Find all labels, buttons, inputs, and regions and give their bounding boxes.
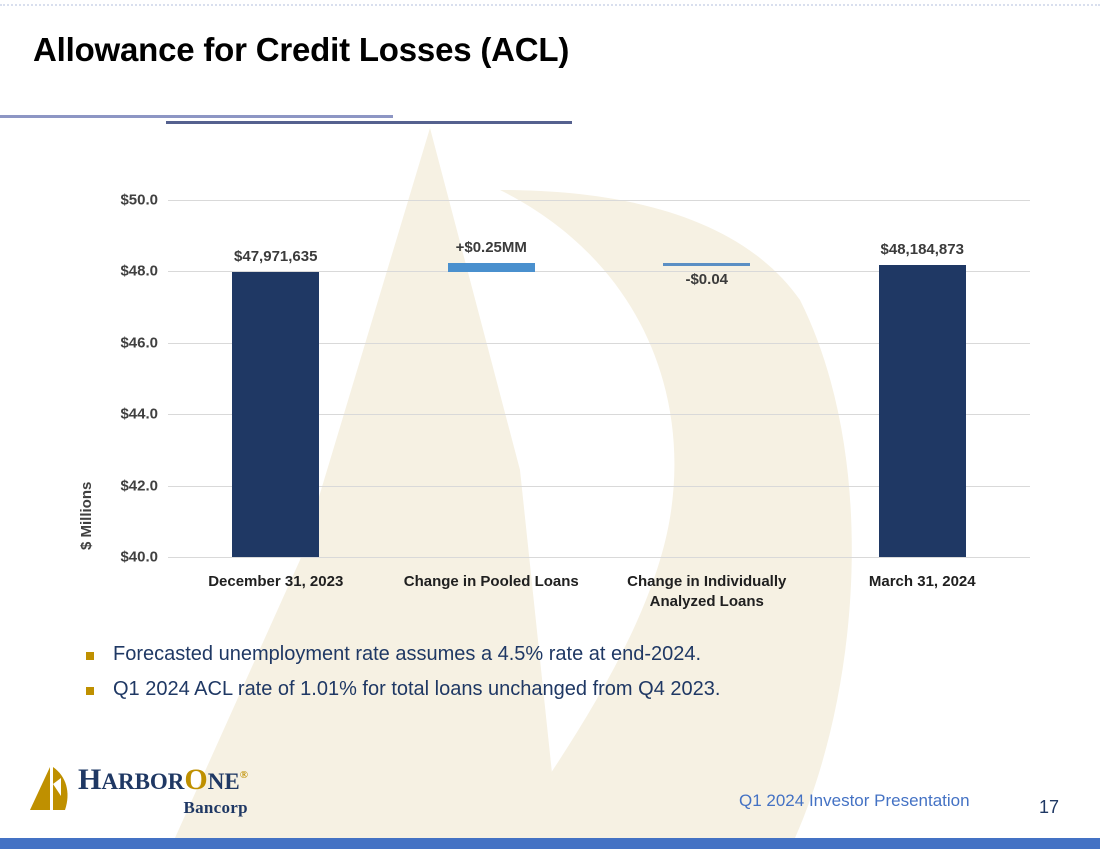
harborone-logo: HARBORONE® Bancorp (28, 765, 248, 818)
logo-arbor: ARBOR (101, 769, 184, 794)
logo-wordmark: HARBORONE® (78, 765, 248, 795)
bullet-text: Forecasted unemployment rate assumes a 4… (113, 643, 701, 666)
slide: Allowance for Credit Losses (ACL) $ Mill… (0, 0, 1100, 849)
data-label: $47,971,635 (176, 248, 376, 265)
bullet-square-icon (86, 687, 94, 695)
x-category-label: March 31, 2024 (818, 572, 1028, 592)
bullet-list: Forecasted unemployment rate assumes a 4… (86, 643, 720, 713)
title-rule-upper (0, 115, 393, 118)
logo-o: O (184, 763, 207, 796)
registered-mark-icon: ® (240, 769, 248, 781)
title-rule-lower (166, 121, 572, 124)
x-category-label: December 31, 2023 (171, 572, 381, 592)
y-tick-label: $40.0 (68, 549, 158, 566)
top-dotted-rule (0, 4, 1100, 8)
y-tick-label: $50.0 (68, 192, 158, 209)
y-tick-label: $46.0 (68, 334, 158, 351)
logo-h: H (78, 763, 101, 796)
bar-increase (448, 263, 535, 272)
bar-total (879, 265, 966, 557)
footer-presentation-label: Q1 2024 Investor Presentation (739, 791, 970, 811)
data-label: $48,184,873 (822, 241, 1022, 258)
y-tick-label: $48.0 (68, 263, 158, 280)
bar-decrease (663, 263, 750, 266)
data-label: +$0.25MM (391, 239, 591, 256)
y-tick-label: $42.0 (68, 477, 158, 494)
y-tick-label: $44.0 (68, 406, 158, 423)
logo-subtitle: Bancorp (78, 798, 248, 818)
page-number: 17 (1039, 797, 1059, 818)
acl-waterfall-chart: $ Millions $50.0$48.0$46.0$44.0$42.0$40.… (0, 150, 1100, 630)
bullet-item: Q1 2024 ACL rate of 1.01% for total loan… (86, 678, 720, 701)
page-title: Allowance for Credit Losses (ACL) (33, 31, 569, 69)
bullet-square-icon (86, 652, 94, 660)
x-category-label: Change in Individually Analyzed Loans (602, 572, 812, 613)
data-label: -$0.04 (607, 271, 807, 288)
x-category-label: Change in Pooled Loans (387, 572, 597, 592)
gridline (168, 557, 1030, 558)
gridline (168, 200, 1030, 201)
logo-ne: NE (208, 769, 240, 794)
sail-logo-icon (28, 766, 72, 816)
bar-total (232, 272, 319, 557)
bullet-text: Q1 2024 ACL rate of 1.01% for total loan… (113, 678, 720, 701)
bullet-item: Forecasted unemployment rate assumes a 4… (86, 643, 720, 666)
bottom-accent-bar (0, 838, 1100, 849)
